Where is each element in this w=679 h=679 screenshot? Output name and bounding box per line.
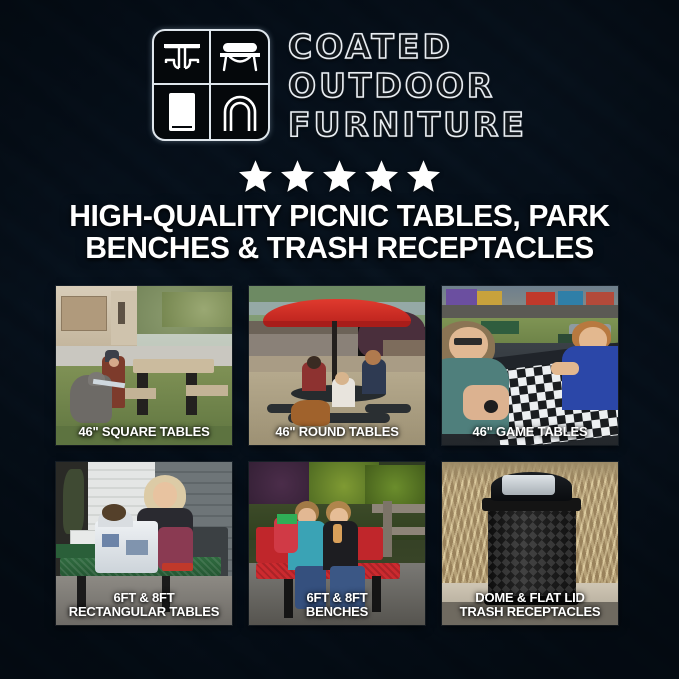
caption-line-1: DOME & FLAT LID	[475, 590, 584, 605]
caption-line-1: 46" GAME TABLES	[473, 424, 588, 439]
picnic-table-icon	[154, 31, 211, 85]
category-caption: DOME & FLAT LID TRASH RECEPTACLES	[442, 591, 618, 619]
category-tile-trash-receptacles[interactable]: DOME & FLAT LID TRASH RECEPTACLES	[442, 462, 618, 625]
brand-wordmark: COATED OUTDOOR FURNITURE	[288, 26, 527, 144]
category-photo-square-tables	[56, 286, 232, 445]
caption-line-1: 6FT & 8FT	[306, 590, 367, 605]
bench-icon	[211, 31, 268, 85]
caption-line-1: 46" ROUND TABLES	[275, 424, 398, 439]
brand-logo: COATED OUTDOOR FURNITURE	[0, 26, 679, 144]
star-icon	[323, 160, 356, 192]
category-caption: 46" GAME TABLES	[442, 425, 618, 439]
trash-receptacle-icon	[154, 85, 211, 139]
caption-line-1: 46" SQUARE TABLES	[78, 424, 209, 439]
category-tile-round-tables[interactable]: 46" ROUND TABLES	[249, 286, 425, 445]
brand-word-furniture: FURNITURE	[288, 106, 527, 144]
category-photo-game-tables	[442, 286, 618, 445]
category-tile-game-tables[interactable]: 46" GAME TABLES	[442, 286, 618, 445]
category-tile-square-tables[interactable]: 46" SQUARE TABLES	[56, 286, 232, 445]
star-icon	[239, 160, 272, 192]
star-rating	[0, 160, 679, 192]
brand-word-outdoor: OUTDOOR	[288, 67, 527, 105]
logo-icon-grid	[152, 29, 270, 141]
category-caption: 6FT & 8FT BENCHES	[249, 591, 425, 619]
promo-banner: COATED OUTDOOR FURNITURE HIGH-QUALITY PI…	[0, 0, 679, 679]
category-caption: 6FT & 8FT RECTANGULAR TABLES	[56, 591, 232, 619]
caption-line-2: TRASH RECEPTACLES	[446, 605, 614, 619]
headline-line-1: HIGH-QUALITY PICNIC TABLES, PARK	[69, 198, 610, 233]
category-caption: 46" SQUARE TABLES	[56, 425, 232, 439]
caption-line-1: 6FT & 8FT	[113, 590, 174, 605]
category-tile-rectangular-tables[interactable]: 6FT & 8FT RECTANGULAR TABLES	[56, 462, 232, 625]
brand-word-coated: COATED	[288, 28, 527, 66]
star-icon	[407, 160, 440, 192]
caption-line-2: RECTANGULAR TABLES	[60, 605, 228, 619]
star-icon	[365, 160, 398, 192]
headline-line-2: BENCHES & TRASH RECEPTACLES	[37, 232, 641, 264]
category-photo-round-tables	[249, 286, 425, 445]
page-title: HIGH-QUALITY PICNIC TABLES, PARK BENCHES…	[37, 200, 641, 264]
product-category-grid: 46" SQUARE TABLES	[56, 286, 622, 625]
arch-bike-rack-icon	[211, 85, 268, 139]
caption-line-2: BENCHES	[253, 605, 421, 619]
category-tile-benches[interactable]: 6FT & 8FT BENCHES	[249, 462, 425, 625]
star-icon	[281, 160, 314, 192]
category-caption: 46" ROUND TABLES	[249, 425, 425, 439]
